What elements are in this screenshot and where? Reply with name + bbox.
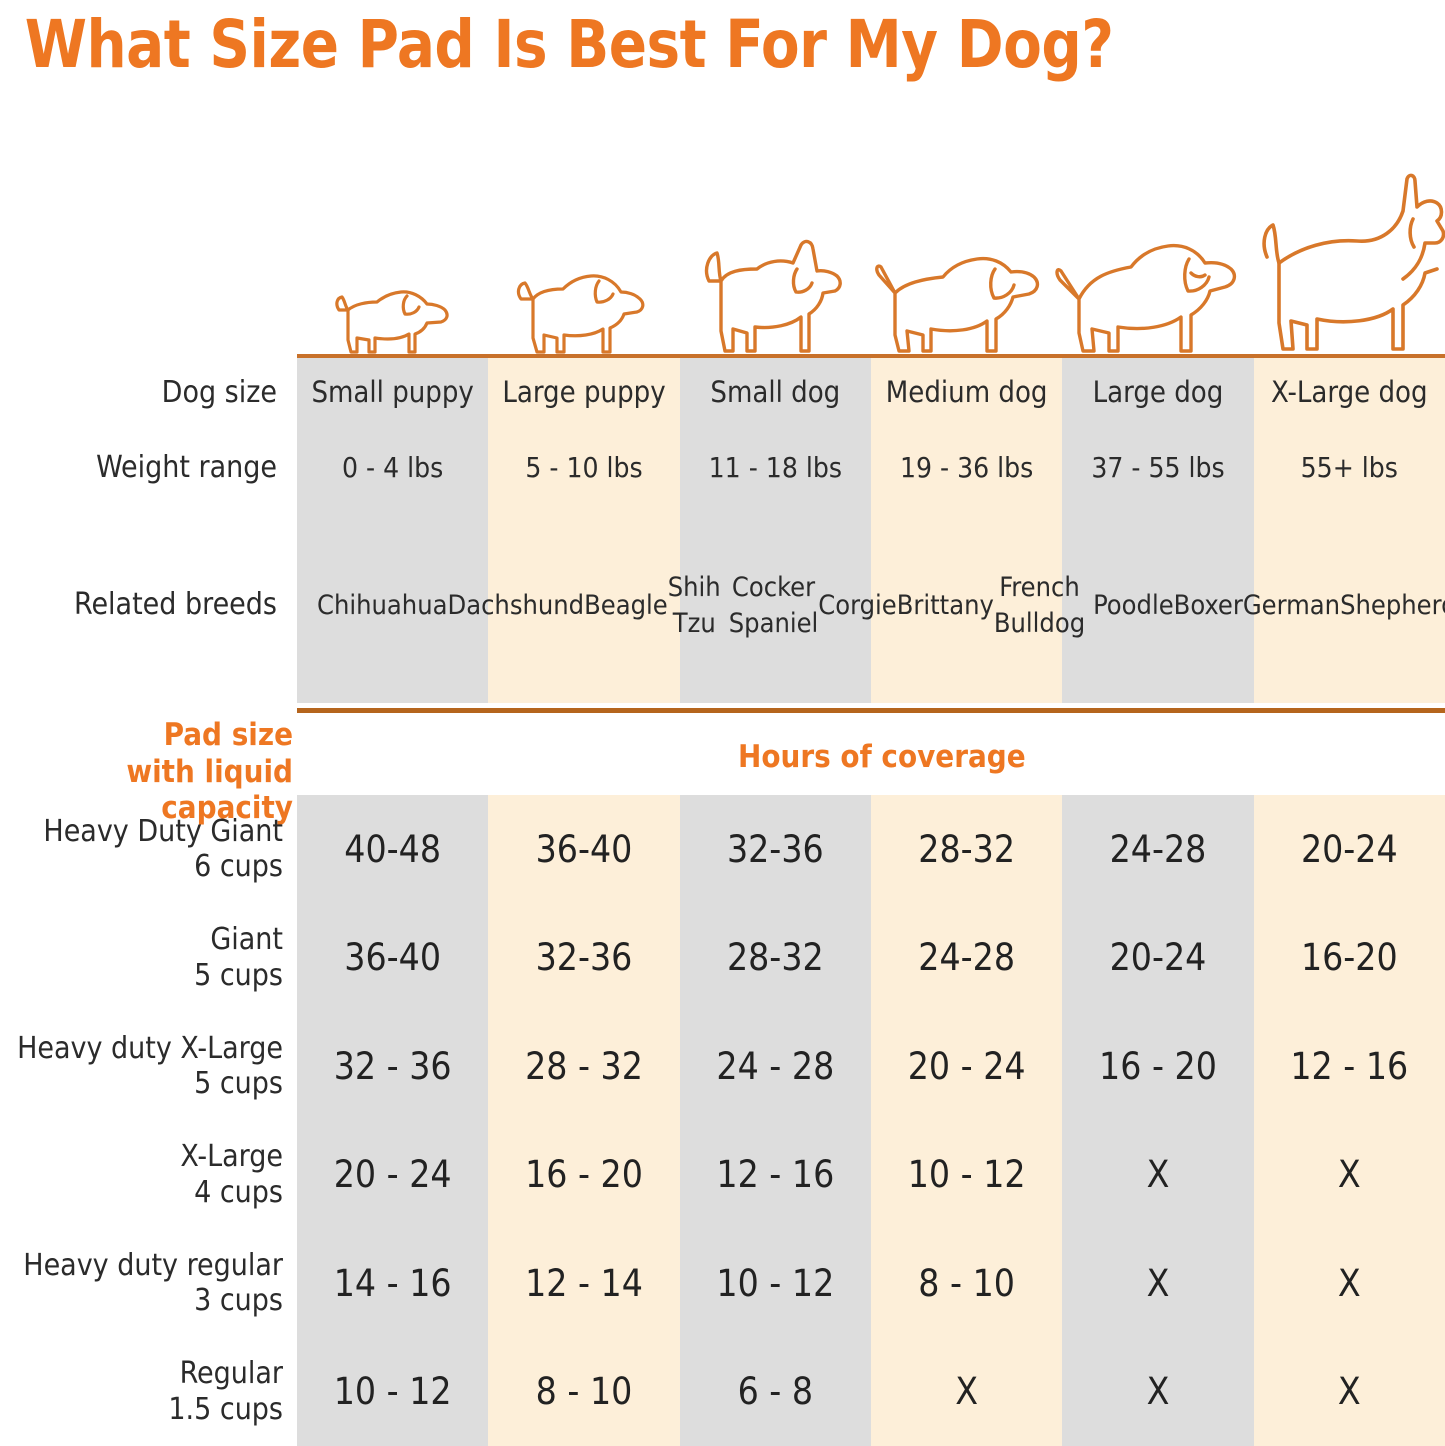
cell-hours-large_puppy-0: 36-40	[488, 795, 679, 904]
dog-info-table: Dog size Small puppy Large puppy Small d…	[0, 358, 1445, 703]
cell-hours-small_puppy-3: 20 - 24	[297, 1121, 488, 1230]
cell-hours-medium_dog-1: 24-28	[871, 904, 1062, 1013]
cell-weight-large-dog: 37 - 55 lbs	[1062, 428, 1253, 508]
cell-dog-size-small-dog: Small dog	[680, 358, 871, 428]
hours-of-coverage-table: Heavy Duty Giant6 cups40-4836-4032-3628-…	[0, 795, 1445, 1446]
pad-capacity: 4 cups	[194, 1175, 283, 1210]
cell-hours-medium_dog-5: X	[871, 1338, 1062, 1446]
cell-dog-size-large-puppy: Large puppy	[488, 358, 679, 428]
cell-hours-small_puppy-2: 32 - 36	[297, 1012, 488, 1121]
cell-hours-xlarge_dog-2: 12 - 16	[1254, 1012, 1445, 1121]
breed-name: French Bulldog	[994, 570, 1085, 641]
cell-hours-large_puppy-4: 12 - 14	[488, 1229, 679, 1338]
cell-hours-xlarge_dog-5: X	[1254, 1338, 1445, 1446]
cell-hours-large_puppy-5: 8 - 10	[488, 1338, 679, 1446]
hours-of-coverage-heading: Hours of coverage	[738, 739, 1026, 775]
cell-hours-large_puppy-1: 32-36	[488, 904, 679, 1013]
cell-hours-medium_dog-2: 20 - 24	[871, 1012, 1062, 1121]
table-row: Giant5 cups36-4032-3628-3224-2820-2416-2…	[0, 904, 1445, 1013]
cell-hours-large_dog-3: X	[1062, 1121, 1253, 1230]
cell-weight-medium-dog: 19 - 36 lbs	[871, 428, 1062, 508]
pad-capacity: 1.5 cups	[168, 1392, 283, 1427]
breed-name: Brittany	[897, 588, 994, 624]
cell-hours-medium_dog-0: 28-32	[871, 795, 1062, 904]
cell-hours-small_puppy-4: 14 - 16	[297, 1229, 488, 1338]
cell-hours-medium_dog-4: 8 - 10	[871, 1229, 1062, 1338]
pad-capacity: 3 cups	[194, 1283, 283, 1318]
puppy-large-icon	[511, 243, 651, 355]
cell-hours-large_dog-5: X	[1062, 1338, 1253, 1446]
pad-name: X-Large	[180, 1139, 283, 1174]
row-related-breeds: Related breeds ChihuahuaDachshundBeagleS…	[0, 508, 1445, 703]
pad-size-heading-line1: Pad size	[164, 717, 293, 753]
row-label-dog-size: Dog size	[0, 358, 297, 428]
breed-name: Boxer	[1174, 588, 1243, 624]
table-row: Regular1.5 cups10 - 128 - 106 - 8XXX	[0, 1338, 1445, 1446]
cell-hours-large_dog-2: 16 - 20	[1062, 1012, 1253, 1121]
table-row: Heavy duty regular3 cups14 - 1612 - 1410…	[0, 1229, 1445, 1338]
dog-silhouette-row	[297, 150, 1445, 355]
row-label-pad-2: Heavy duty X-Large5 cups	[0, 1012, 297, 1121]
row-label-weight-range: Weight range	[0, 428, 297, 508]
cell-hours-large_puppy-2: 28 - 32	[488, 1012, 679, 1121]
puppy-small-icon	[329, 260, 454, 355]
row-label-related-breeds: Related breeds	[0, 508, 297, 703]
row-label-pad-0: Heavy Duty Giant6 cups	[0, 795, 297, 904]
cell-weight-small-puppy: 0 - 4 lbs	[297, 428, 488, 508]
dog-xlarge-icon	[1245, 173, 1445, 355]
dog-small-icon	[693, 219, 848, 355]
pad-capacity: 5 cups	[194, 958, 283, 993]
cell-hours-xlarge_dog-3: X	[1254, 1121, 1445, 1230]
pad-capacity: 6 cups	[194, 849, 283, 884]
breed-name: Dachshund	[447, 588, 584, 624]
table-row: X-Large4 cups20 - 2416 - 2012 - 1610 - 1…	[0, 1121, 1445, 1230]
cell-hours-small_dog-5: 6 - 8	[680, 1338, 871, 1446]
pad-name: Regular	[180, 1356, 283, 1391]
cell-dog-size-xlarge-dog: X-Large dog	[1254, 358, 1445, 428]
pad-name: Heavy duty regular	[23, 1248, 283, 1283]
row-label-pad-3: X-Large4 cups	[0, 1121, 297, 1230]
cell-hours-large_dog-0: 24-28	[1062, 795, 1253, 904]
breed-name: Shih Tzu	[668, 570, 721, 641]
cell-hours-small_dog-2: 24 - 28	[680, 1012, 871, 1121]
cell-dog-size-large-dog: Large dog	[1062, 358, 1253, 428]
cell-hours-large_puppy-3: 16 - 20	[488, 1121, 679, 1230]
cell-hours-small_dog-3: 12 - 16	[680, 1121, 871, 1230]
row-label-pad-4: Heavy duty regular3 cups	[0, 1229, 297, 1338]
pad-name: Heavy Duty Giant	[43, 814, 283, 849]
dog-cell-small-dog	[676, 150, 866, 355]
cell-hours-small_dog-4: 10 - 12	[680, 1229, 871, 1338]
cell-weight-large-puppy: 5 - 10 lbs	[488, 428, 679, 508]
section-headings: Pad size with liquid capacity Hours of c…	[0, 713, 1445, 795]
dog-cell-xlarge-dog	[1245, 150, 1445, 355]
cell-hours-small_puppy-1: 36-40	[297, 904, 488, 1013]
table-row: Heavy duty X-Large5 cups32 - 3628 - 3224…	[0, 1012, 1445, 1121]
dog-cell-large-dog	[1055, 150, 1245, 355]
dog-cell-medium-dog	[866, 150, 1056, 355]
dog-medium-icon	[873, 235, 1048, 355]
cell-hours-small_puppy-0: 40-48	[297, 795, 488, 904]
pad-name: Giant	[210, 922, 283, 957]
cell-hours-xlarge_dog-4: X	[1254, 1229, 1445, 1338]
breed-name: Beagle	[584, 588, 668, 624]
dog-large-icon	[1055, 223, 1245, 355]
cell-breeds-large_puppy	[305, 508, 313, 703]
cell-breeds-large_dog: PoodleBoxerGermanShepherdHusky	[1089, 508, 1445, 703]
cell-hours-small_dog-1: 28-32	[680, 904, 871, 1013]
dog-cell-large-puppy	[487, 150, 677, 355]
row-dog-size: Dog size Small puppy Large puppy Small d…	[0, 358, 1445, 428]
cell-breeds-medium_dog: Cocker SpanielCorgieBrittanyFrench Bulld…	[725, 508, 1089, 703]
cell-dog-size-medium-dog: Medium dog	[871, 358, 1062, 428]
cell-hours-xlarge_dog-1: 16-20	[1254, 904, 1445, 1013]
page-title: What Size Pad Is Best For My Dog?	[0, 0, 1373, 83]
breed-name: Chihuahua	[317, 588, 447, 624]
breed-name: Cocker Spaniel	[729, 570, 819, 641]
dog-cell-small-puppy	[297, 150, 487, 355]
infographic-board: What Size Pad Is Best For My Dog?	[0, 0, 1445, 1446]
breed-name: Corgie	[818, 588, 896, 624]
pad-name: Heavy duty X-Large	[17, 1031, 283, 1066]
table-row: Heavy Duty Giant6 cups40-4836-4032-3628-…	[0, 795, 1445, 904]
cell-hours-large_dog-4: X	[1062, 1229, 1253, 1338]
breed-name: Shepherd	[1340, 588, 1445, 624]
row-weight-range: Weight range 0 - 4 lbs 5 - 10 lbs 11 - 1…	[0, 428, 1445, 508]
cell-weight-small-dog: 11 - 18 lbs	[680, 428, 871, 508]
cell-breeds-small_dog: ChihuahuaDachshundBeagleShih Tzu	[313, 508, 725, 703]
cell-hours-small_puppy-5: 10 - 12	[297, 1338, 488, 1446]
cell-dog-size-small-puppy: Small puppy	[297, 358, 488, 428]
row-label-pad-5: Regular1.5 cups	[0, 1338, 297, 1446]
cell-breeds-small_puppy	[297, 508, 305, 703]
row-label-pad-1: Giant5 cups	[0, 904, 297, 1013]
cell-weight-xlarge-dog: 55+ lbs	[1254, 428, 1445, 508]
cell-hours-xlarge_dog-0: 20-24	[1254, 795, 1445, 904]
cell-hours-large_dog-1: 20-24	[1062, 904, 1253, 1013]
breed-name: German	[1243, 588, 1340, 624]
breed-name: Poodle	[1093, 588, 1174, 624]
cell-hours-small_dog-0: 32-36	[680, 795, 871, 904]
pad-capacity: 5 cups	[194, 1066, 283, 1101]
cell-hours-medium_dog-3: 10 - 12	[871, 1121, 1062, 1230]
